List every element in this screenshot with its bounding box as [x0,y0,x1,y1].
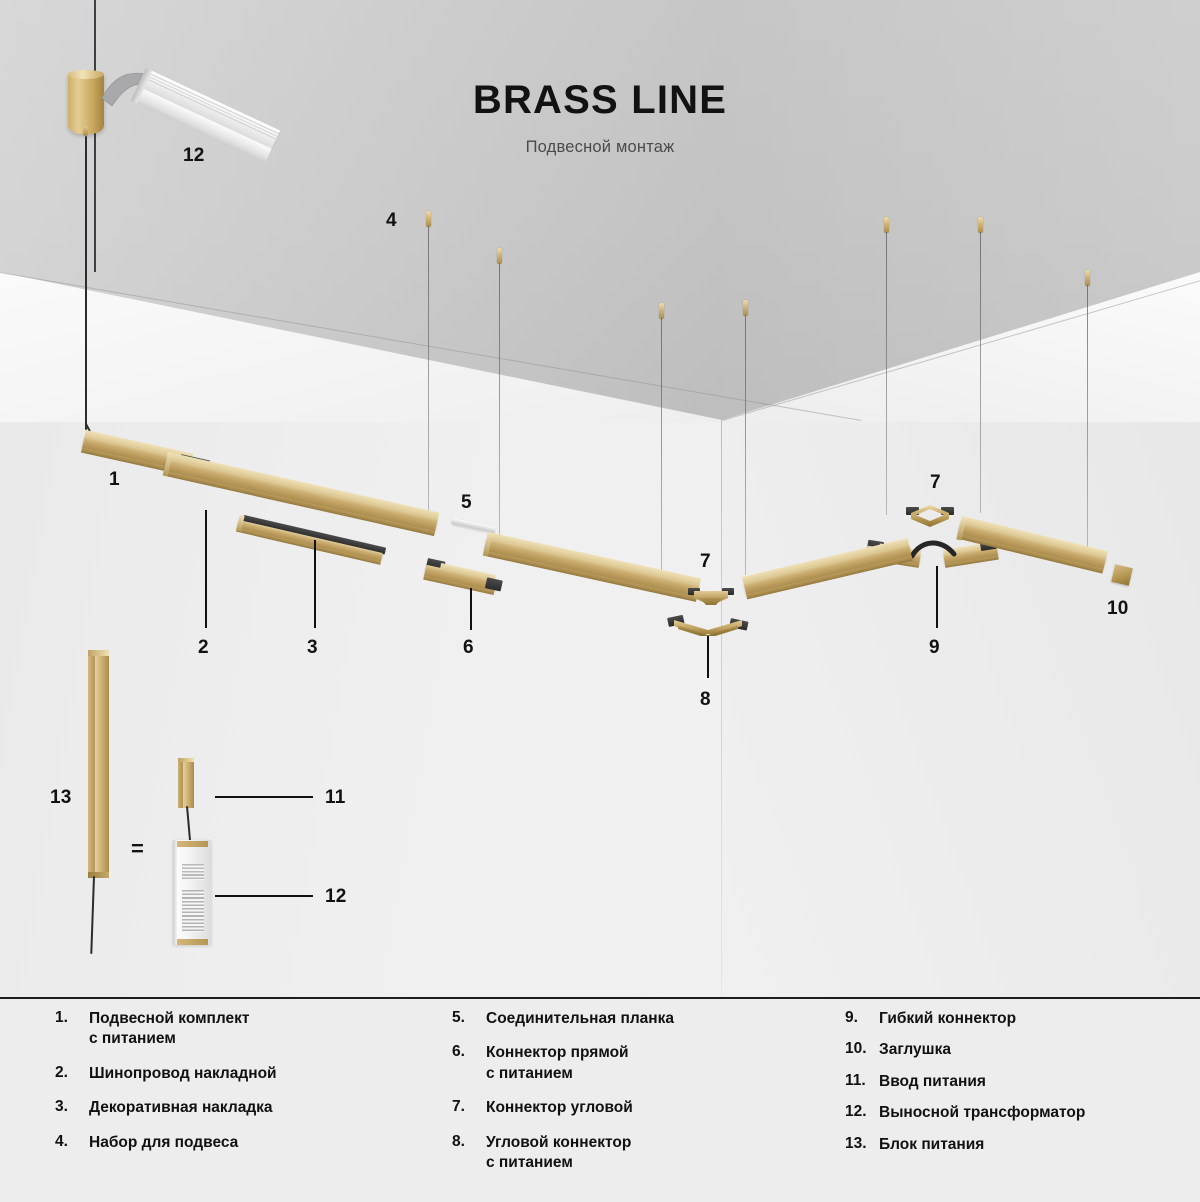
callout-8: 8 [700,689,711,711]
leader-11 [215,796,313,798]
legend-item-label: Ввод питания [879,1072,986,1092]
legend-item-number: 11. [845,1072,879,1092]
legend-item: 5. Соединительная планка [452,1009,832,1029]
legend-item-number: 5. [452,1009,486,1029]
legend-panel: 1. Подвесной комплект с питанием 2. Шино… [0,997,1200,1202]
legend-item: 11. Ввод питания [845,1072,1185,1092]
corner-connector-7-right [906,503,954,533]
power-supply-13 [88,650,110,878]
equals-sign: = [131,836,144,862]
suspension-wire [1087,285,1088,553]
suspension-wire [745,315,746,575]
legend-item-label: Коннектор угловой [486,1098,633,1118]
page-subtitle: Подвесной монтаж [0,138,1200,157]
legend-item-number: 9. [845,1009,879,1029]
callout-1: 1 [109,469,120,491]
remote-transformer-12 [173,840,211,945]
legend-item: 2. Шинопровод накладной [55,1064,435,1084]
legend-item: 10. Заглушка [845,1040,1185,1060]
legend-column-3: 9. Гибкий коннектор 10. Заглушка 11. Вво… [845,1009,1185,1166]
wall-edge-dark-line [94,0,96,272]
legend-item-number: 1. [55,1009,89,1050]
legend-item-label: Соединительная планка [486,1009,674,1029]
legend-item: 12. Выносной трансформатор [845,1103,1185,1123]
legend-item: 3. Декоративная накладка [55,1098,435,1118]
legend-item-number: 4. [55,1133,89,1153]
legend-item: 8. Угловой коннектор с питанием [452,1133,832,1174]
suspension-tip [884,217,889,233]
leader-8 [707,636,709,678]
callout-4: 4 [386,210,397,232]
legend-item-label: Заглушка [879,1040,951,1060]
legend-item-label: Подвесной комплект с питанием [89,1009,250,1050]
corner-connector-7-left [688,586,734,612]
legend-item-number: 2. [55,1064,89,1084]
power-inlet-11 [178,758,194,808]
suspension-tip [426,211,431,227]
suspension-wire [499,263,500,538]
leader-2 [205,510,207,628]
suspension-wire [980,232,981,513]
legend-item-label: Набор для подвеса [89,1133,238,1153]
legend-item: 4. Набор для подвеса [55,1133,435,1153]
legend-item-label: Декоративная накладка [89,1098,273,1118]
callout-10: 10 [1107,598,1129,620]
legend-item-label: Блок питания [879,1135,984,1155]
suspension-tip [1085,270,1090,286]
legend-item: 13. Блок питания [845,1135,1185,1155]
legend-item-label: Выносной трансформатор [879,1103,1085,1123]
callout-2: 2 [198,637,209,659]
brass-line-diagram: = 12 4 1 5 7 [0,0,1200,1200]
legend-item-number: 3. [55,1098,89,1118]
suspension-wire [428,226,429,522]
legend-item-number: 8. [452,1133,486,1174]
legend-column-1: 1. Подвесной комплект с питанием 2. Шино… [55,1009,435,1167]
callout-6: 6 [463,637,474,659]
legend-item-label: Коннектор прямой с питанием [486,1043,629,1084]
leader-6 [470,588,472,630]
legend-column-2: 5. Соединительная планка 6. Коннектор пр… [452,1009,832,1188]
legend-item-number: 12. [845,1103,879,1123]
suspension-tip [497,248,502,264]
legend-item: 1. Подвесной комплект с питанием [55,1009,435,1050]
suspension-wire [661,318,662,583]
callout-11: 11 [325,787,346,809]
callout-12-bottom: 12 [325,886,347,908]
callout-13: 13 [50,787,72,809]
legend-item: 7. Коннектор угловой [452,1098,832,1118]
leader-12 [215,895,313,897]
legend-item-label: Угловой коннектор с питанием [486,1133,631,1174]
legend-item-label: Шинопровод накладной [89,1064,277,1084]
callout-3: 3 [307,637,318,659]
legend-item-number: 13. [845,1135,879,1155]
callout-5: 5 [461,492,472,514]
callout-7-left: 7 [700,551,711,573]
legend-item-number: 6. [452,1043,486,1084]
legend-item-number: 10. [845,1040,879,1060]
suspension-tip [743,300,748,316]
scene-illustration: = 12 4 1 5 7 [0,0,1200,997]
power-cable-main [85,136,87,430]
legend-item-label: Гибкий коннектор [879,1009,1016,1029]
legend-item: 6. Коннектор прямой с питанием [452,1043,832,1084]
leader-3 [314,540,316,628]
page-title: BRASS LINE [0,78,1200,123]
suspension-tip [659,303,664,319]
callout-7-right: 7 [930,472,941,494]
driver-cylinder-nipple [83,126,88,136]
legend-item: 9. Гибкий коннектор [845,1009,1185,1029]
suspension-wire [886,232,887,515]
suspension-tip [978,217,983,233]
leader-9 [936,566,938,628]
room-corner-edge [721,420,722,997]
legend-item-number: 7. [452,1098,486,1118]
callout-9: 9 [929,637,940,659]
